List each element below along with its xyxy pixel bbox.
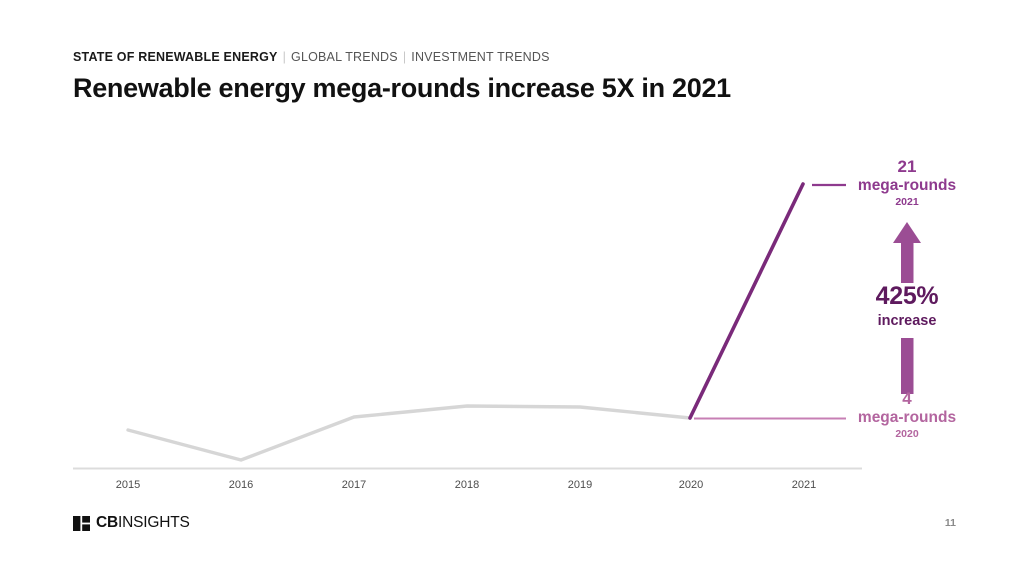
series-line-highlight xyxy=(690,184,803,418)
x-tick-2019: 2019 xyxy=(545,479,615,491)
increase-percent: 425% xyxy=(807,283,1007,311)
callout-2020: 4 mega-rounds 2020 xyxy=(807,389,1007,442)
x-tick-2015: 2015 xyxy=(93,479,163,491)
x-tick-2020: 2020 xyxy=(656,479,726,491)
callout-2020-value: 4 xyxy=(807,389,1007,409)
increase-label: increase xyxy=(807,313,1007,330)
cb-insights-logo: CBINSIGHTS xyxy=(73,514,190,532)
breadcrumb: STATE OF RENEWABLE ENERGY|GLOBAL TRENDS|… xyxy=(73,50,953,65)
logo-text-cb: CB xyxy=(96,514,118,531)
header: STATE OF RENEWABLE ENERGY|GLOBAL TRENDS|… xyxy=(73,50,953,106)
cb-insights-logo-text: CBINSIGHTS xyxy=(96,514,190,532)
callout-2021-year: 2021 xyxy=(807,196,1007,210)
x-tick-2017: 2017 xyxy=(319,479,389,491)
series-line-historical xyxy=(128,406,690,460)
page-title: Renewable energy mega-rounds increase 5X… xyxy=(73,72,953,106)
callout-2021: 21 mega-rounds 2021 xyxy=(807,157,1007,210)
callout-2020-unit: mega-rounds xyxy=(807,409,1007,428)
callout-2021-unit: mega-rounds xyxy=(807,177,1007,196)
x-tick-2021: 2021 xyxy=(769,479,839,491)
breadcrumb-separator-1: | xyxy=(283,50,286,64)
breadcrumb-separator-2: | xyxy=(403,50,406,64)
callout-2021-value: 21 xyxy=(807,157,1007,177)
breadcrumb-kicker: STATE OF RENEWABLE ENERGY xyxy=(73,50,278,64)
breadcrumb-item-investment-trends: INVESTMENT TRENDS xyxy=(411,50,549,64)
breadcrumb-item-global-trends: GLOBAL TRENDS xyxy=(291,50,398,64)
x-tick-2016: 2016 xyxy=(206,479,276,491)
cb-insights-logo-mark-icon xyxy=(73,516,90,531)
logo-text-insights: INSIGHTS xyxy=(118,514,190,531)
callout-2020-year: 2020 xyxy=(807,428,1007,442)
increase-callout: 425% increase xyxy=(807,283,1007,330)
page-number: 11 xyxy=(945,517,956,529)
x-tick-2018: 2018 xyxy=(432,479,502,491)
